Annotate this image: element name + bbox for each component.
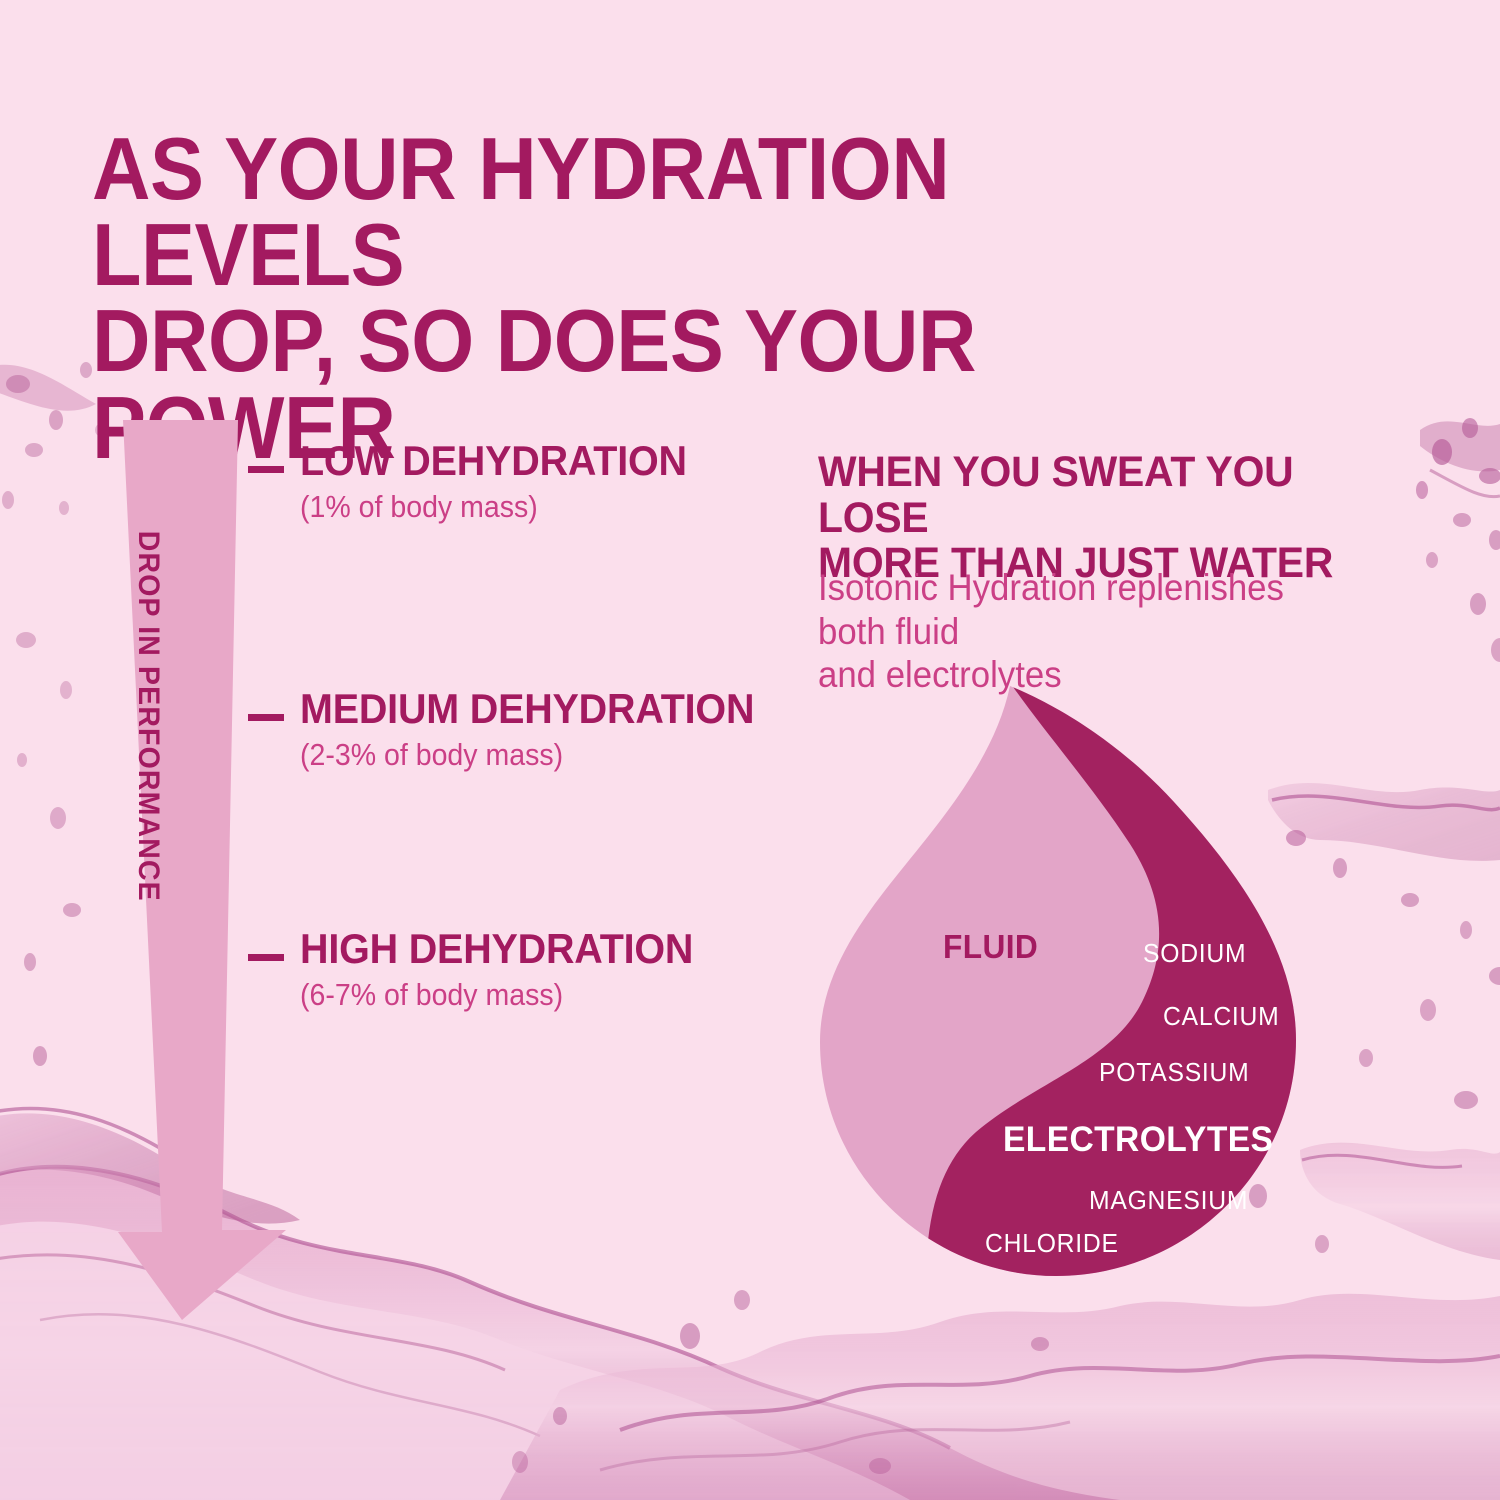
infographic-page: AS YOUR HYDRATION LEVELS DROP, SO DOES Y… bbox=[0, 0, 1500, 1500]
electrolyte-item-calcium: CALCIUM bbox=[1163, 1001, 1279, 1032]
droplet-electrolytes-label: ELECTROLYTES bbox=[1003, 1120, 1273, 1160]
dehydration-level-low: LOW DEHYDRATION (1% of body mass) bbox=[248, 440, 712, 523]
splash-top-left bbox=[0, 362, 105, 699]
level-title: LOW DEHYDRATION bbox=[300, 440, 687, 483]
level-dash-icon bbox=[248, 954, 284, 961]
level-title: MEDIUM DEHYDRATION bbox=[300, 688, 754, 731]
splash-bottom-center bbox=[500, 1290, 1500, 1500]
splash-right-upper bbox=[1416, 418, 1500, 662]
level-dash-icon bbox=[248, 714, 284, 721]
electrolyte-item-magnesium: MAGNESIUM bbox=[1089, 1185, 1248, 1216]
arrow-axis-label: DROP IN PERFORMANCE bbox=[118, 422, 178, 1277]
level-subtitle: (1% of body mass) bbox=[300, 491, 679, 524]
droplet-fluid-label: FLUID bbox=[943, 928, 1038, 966]
level-title: HIGH DEHYDRATION bbox=[300, 928, 693, 971]
electrolyte-item-chloride: CHLORIDE bbox=[985, 1228, 1119, 1259]
electrolyte-item-sodium: SODIUM bbox=[1143, 938, 1246, 969]
dehydration-level-medium: MEDIUM DEHYDRATION (2-3% of body mass) bbox=[248, 688, 783, 771]
level-subtitle: (6-7% of body mass) bbox=[300, 979, 685, 1012]
level-subtitle: (2-3% of body mass) bbox=[300, 739, 745, 772]
dehydration-level-high: HIGH DEHYDRATION (6-7% of body mass) bbox=[248, 928, 718, 1011]
electrolyte-item-potassium: POTASSIUM bbox=[1099, 1057, 1249, 1088]
level-dash-icon bbox=[248, 466, 284, 473]
